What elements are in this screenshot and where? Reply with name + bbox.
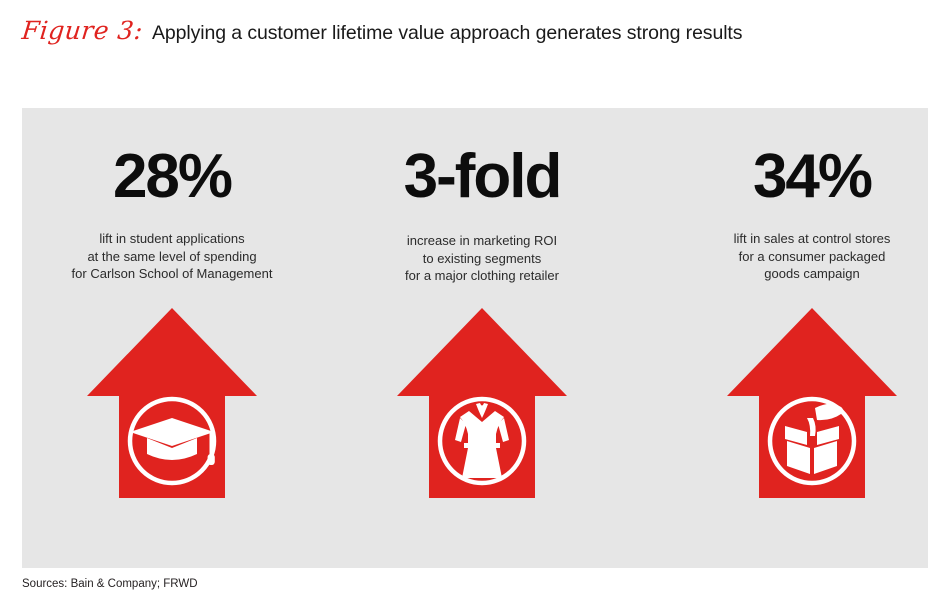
arrow-up-shape [87, 308, 257, 498]
stat-caption: increase in marketing ROI to existing se… [332, 232, 632, 285]
stat-caption: lift in student applications at the same… [22, 230, 322, 283]
up-arrow-graduation [87, 308, 257, 498]
arrow-up-shape [727, 308, 897, 498]
source-note: Sources: Bain & Company; FRWD [22, 578, 198, 590]
page-title: Applying a customer lifetime value appro… [152, 22, 742, 45]
stat-caption: lift in sales at control stores for a co… [662, 230, 950, 283]
infographic-panel: 28% lift in student applications at the … [22, 108, 928, 568]
stat-block-control-store-sales: 34% lift in sales at control stores for … [662, 108, 950, 568]
stat-value: 3-fold [332, 146, 632, 208]
stat-value: 28% [22, 146, 322, 208]
up-arrow-packaged-goods [727, 308, 897, 498]
figure-title: Figure 3: Applying a customer lifetime v… [22, 16, 922, 52]
stat-block-student-applications: 28% lift in student applications at the … [22, 108, 322, 568]
up-arrow-clothing [397, 308, 567, 498]
figure-number-label: Figure 3: [20, 16, 144, 45]
stat-value: 34% [662, 146, 950, 208]
stat-block-marketing-roi: 3-fold increase in marketing ROI to exis… [332, 108, 632, 568]
